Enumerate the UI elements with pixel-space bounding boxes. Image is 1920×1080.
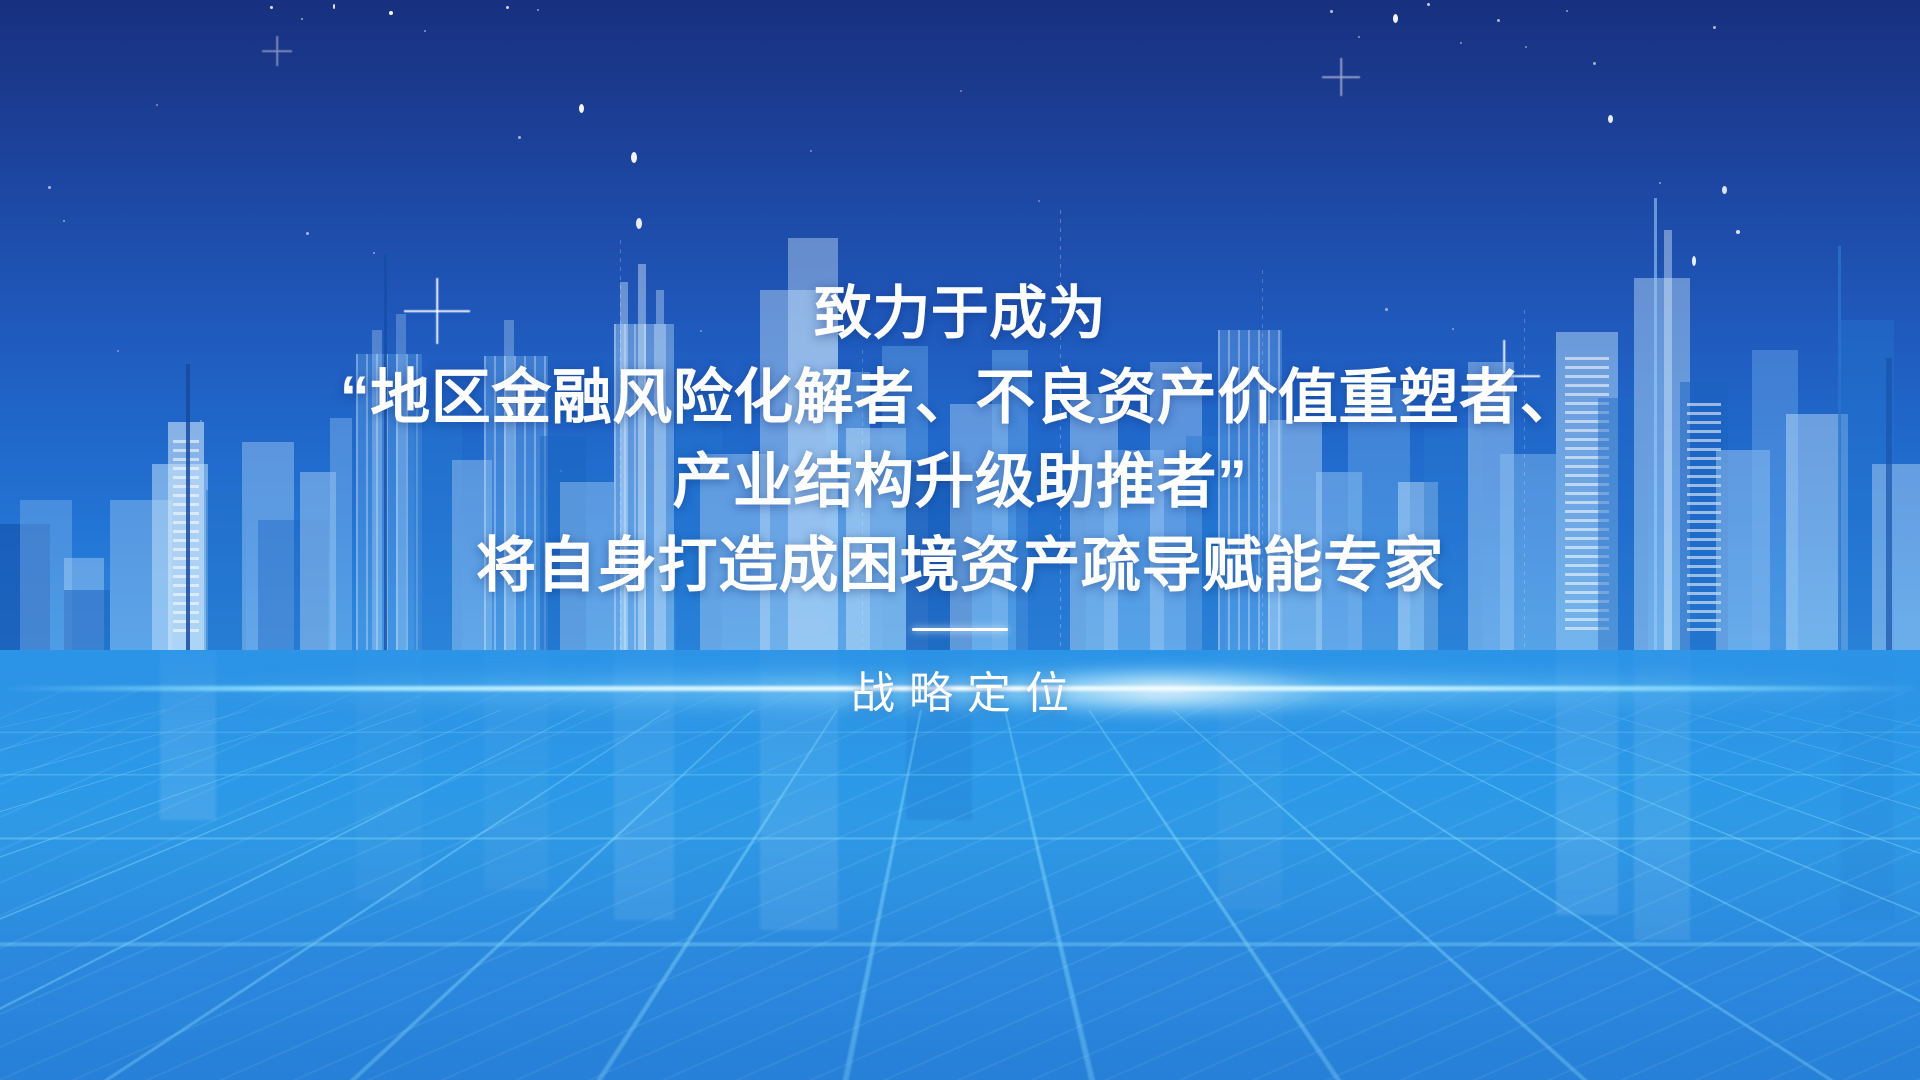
horizon-hotspot <box>930 656 1400 726</box>
city-skyline-graphic <box>0 190 1920 650</box>
slide-canvas: 致力于成为 “地区金融风险化解者、不良资产价值重塑者、 产业结构升级助推者” 将… <box>0 0 1920 1080</box>
